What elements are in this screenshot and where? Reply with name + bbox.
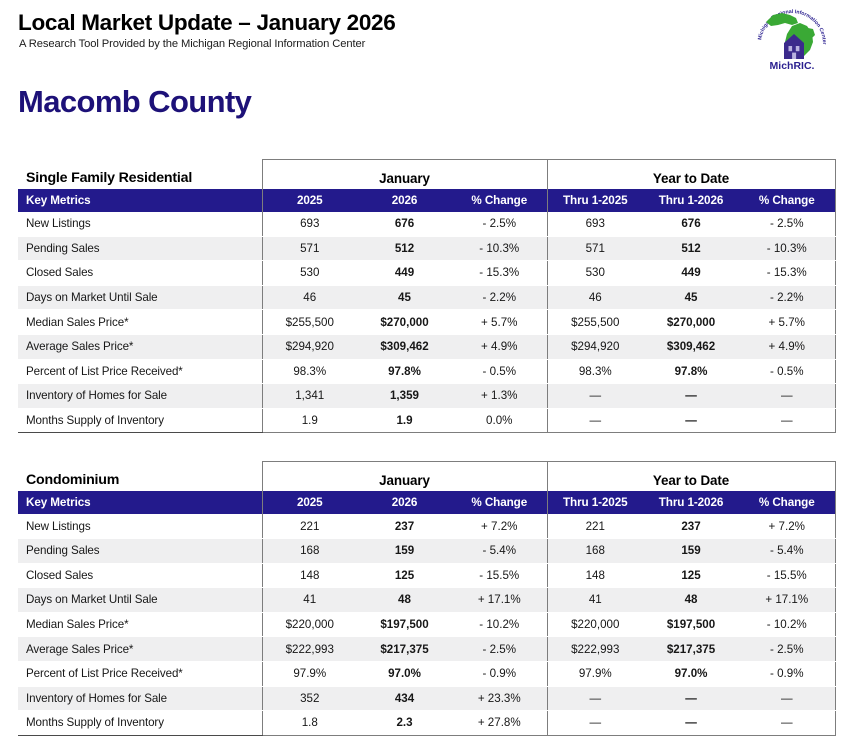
month-change-value: - 10.3% <box>452 236 547 261</box>
table-row: Median Sales Price* $255,500 $270,000 + … <box>18 310 835 335</box>
col-header-ytd-change: % Change <box>739 491 835 514</box>
month-prior-value: $255,500 <box>262 310 357 335</box>
ytd-prior-value: — <box>547 711 643 736</box>
ytd-current-value: 159 <box>643 538 739 563</box>
month-change-value: + 23.3% <box>452 686 547 711</box>
table-row: Months Supply of Inventory 1.9 1.9 0.0% … <box>18 408 835 433</box>
col-header-month-prior: 2025 <box>262 491 357 514</box>
metric-label: Pending Sales <box>18 236 262 261</box>
ytd-change-value: + 4.9% <box>739 334 835 359</box>
month-prior-value: 1.9 <box>262 408 357 433</box>
table-row: Closed Sales 530 449 - 15.3% 530 449 - 1… <box>18 261 835 286</box>
month-current-value: 45 <box>357 285 452 310</box>
ytd-prior-value: 168 <box>547 538 643 563</box>
ytd-change-value: - 5.4% <box>739 538 835 563</box>
table-row: New Listings 693 676 - 2.5% 693 676 - 2.… <box>18 212 835 236</box>
month-current-value: 1,359 <box>357 384 452 409</box>
table-row: Average Sales Price* $294,920 $309,462 +… <box>18 334 835 359</box>
metric-label: New Listings <box>18 212 262 236</box>
property-type-label: Single Family Residential <box>18 160 262 190</box>
ytd-prior-value: 41 <box>547 588 643 613</box>
ytd-current-value: — <box>643 711 739 736</box>
ytd-change-value: - 10.2% <box>739 612 835 637</box>
month-prior-value: 530 <box>262 261 357 286</box>
ytd-prior-value: $294,920 <box>547 334 643 359</box>
ytd-current-value: $309,462 <box>643 334 739 359</box>
metric-label: Days on Market Until Sale <box>18 588 262 613</box>
ytd-change-value: - 2.2% <box>739 285 835 310</box>
ytd-prior-value: 693 <box>547 212 643 236</box>
ytd-current-value: 237 <box>643 514 739 538</box>
ytd-prior-value: 46 <box>547 285 643 310</box>
table-row: Percent of List Price Received* 97.9% 97… <box>18 661 835 686</box>
ytd-current-value: 97.8% <box>643 359 739 384</box>
table-row: Days on Market Until Sale 46 45 - 2.2% 4… <box>18 285 835 310</box>
ytd-change-value: — <box>739 408 835 433</box>
ytd-prior-value: 148 <box>547 563 643 588</box>
ytd-change-value: - 15.5% <box>739 563 835 588</box>
ytd-current-value: 512 <box>643 236 739 261</box>
col-header-ytd-current: Thru 1-2026 <box>643 189 739 212</box>
table-row: Pending Sales 168 159 - 5.4% 168 159 - 5… <box>18 538 835 563</box>
col-header-ytd-prior: Thru 1-2025 <box>547 189 643 212</box>
month-prior-value: 148 <box>262 563 357 588</box>
ytd-prior-value: $222,993 <box>547 637 643 662</box>
period-header-ytd: Year to Date <box>547 160 835 190</box>
month-prior-value: 352 <box>262 686 357 711</box>
period-header-ytd: Year to Date <box>547 462 835 492</box>
month-current-value: 97.8% <box>357 359 452 384</box>
ytd-prior-value: — <box>547 686 643 711</box>
table-row: Average Sales Price* $222,993 $217,375 -… <box>18 637 835 662</box>
ytd-prior-value: $255,500 <box>547 310 643 335</box>
month-change-value: + 7.2% <box>452 514 547 538</box>
ytd-change-value: + 5.7% <box>739 310 835 335</box>
property-type-label: Condominium <box>18 462 262 492</box>
column-header-row: Key Metrics 2025 2026 % Change Thru 1-20… <box>18 491 835 514</box>
ytd-change-value: + 17.1% <box>739 588 835 613</box>
month-change-value: - 0.9% <box>452 661 547 686</box>
metric-label: Percent of List Price Received* <box>18 661 262 686</box>
ytd-change-value: - 2.5% <box>739 212 835 236</box>
month-current-value: 97.0% <box>357 661 452 686</box>
metric-label: Pending Sales <box>18 538 262 563</box>
ytd-prior-value: 97.9% <box>547 661 643 686</box>
month-prior-value: 1.8 <box>262 711 357 736</box>
col-header-month-current: 2026 <box>357 491 452 514</box>
period-header-month: January <box>262 462 547 492</box>
ytd-prior-value: $220,000 <box>547 612 643 637</box>
ytd-change-value: + 7.2% <box>739 514 835 538</box>
condominium-table: Condominium January Year to Date Key Met… <box>18 461 836 735</box>
condominium-section: Condominium January Year to Date Key Met… <box>18 461 835 735</box>
month-change-value: - 2.5% <box>452 637 547 662</box>
month-current-value: 676 <box>357 212 452 236</box>
month-change-value: - 10.2% <box>452 612 547 637</box>
ytd-prior-value: 98.3% <box>547 359 643 384</box>
col-header-month-change: % Change <box>452 491 547 514</box>
month-prior-value: 168 <box>262 538 357 563</box>
month-current-value: $217,375 <box>357 637 452 662</box>
metric-label: Inventory of Homes for Sale <box>18 384 262 409</box>
metric-label: New Listings <box>18 514 262 538</box>
month-change-value: + 5.7% <box>452 310 547 335</box>
month-current-value: 2.3 <box>357 711 452 736</box>
metric-label: Closed Sales <box>18 563 262 588</box>
ytd-change-value: - 0.5% <box>739 359 835 384</box>
ytd-current-value: — <box>643 408 739 433</box>
ytd-change-value: — <box>739 384 835 409</box>
metric-label: Closed Sales <box>18 261 262 286</box>
ytd-prior-value: 530 <box>547 261 643 286</box>
table-row: Inventory of Homes for Sale 352 434 + 23… <box>18 686 835 711</box>
metric-label: Median Sales Price* <box>18 310 262 335</box>
single-family-residential-section: Single Family Residential January Year t… <box>18 159 835 433</box>
michric-logo: Michigan Regional Information Center Mic… <box>752 4 832 72</box>
col-header-ytd-change: % Change <box>739 189 835 212</box>
ytd-current-value: 48 <box>643 588 739 613</box>
month-prior-value: 571 <box>262 236 357 261</box>
table-row: Months Supply of Inventory 1.8 2.3 + 27.… <box>18 711 835 736</box>
month-change-value: - 15.3% <box>452 261 547 286</box>
single-family-residential-table: Single Family Residential January Year t… <box>18 159 836 433</box>
month-current-value: $197,500 <box>357 612 452 637</box>
ytd-current-value: 676 <box>643 212 739 236</box>
table-row: Closed Sales 148 125 - 15.5% 148 125 - 1… <box>18 563 835 588</box>
ytd-current-value: $197,500 <box>643 612 739 637</box>
metric-label: Months Supply of Inventory <box>18 711 262 736</box>
month-current-value: $270,000 <box>357 310 452 335</box>
month-change-value: - 2.5% <box>452 212 547 236</box>
ytd-prior-value: 571 <box>547 236 643 261</box>
ytd-change-value: - 2.5% <box>739 637 835 662</box>
month-change-value: - 0.5% <box>452 359 547 384</box>
metric-label: Percent of List Price Received* <box>18 359 262 384</box>
ytd-current-value: — <box>643 384 739 409</box>
ytd-current-value: $270,000 <box>643 310 739 335</box>
month-prior-value: 46 <box>262 285 357 310</box>
ytd-current-value: — <box>643 686 739 711</box>
col-header-key-metrics: Key Metrics <box>18 491 262 514</box>
logo-wordmark: MichRIC. <box>770 60 815 72</box>
ytd-prior-value: — <box>547 408 643 433</box>
month-change-value: + 17.1% <box>452 588 547 613</box>
month-change-value: + 4.9% <box>452 334 547 359</box>
metric-label: Average Sales Price* <box>18 637 262 662</box>
table-row: New Listings 221 237 + 7.2% 221 237 + 7.… <box>18 514 835 538</box>
metric-label: Months Supply of Inventory <box>18 408 262 433</box>
month-change-value: - 2.2% <box>452 285 547 310</box>
ytd-prior-value: 221 <box>547 514 643 538</box>
metric-label: Days on Market Until Sale <box>18 285 262 310</box>
month-current-value: 512 <box>357 236 452 261</box>
ytd-current-value: 449 <box>643 261 739 286</box>
ytd-prior-value: — <box>547 384 643 409</box>
table-row: Inventory of Homes for Sale 1,341 1,359 … <box>18 384 835 409</box>
col-header-month-current: 2026 <box>357 189 452 212</box>
month-change-value: + 1.3% <box>452 384 547 409</box>
month-prior-value: 1,341 <box>262 384 357 409</box>
group-header-row: Condominium January Year to Date <box>18 462 835 492</box>
table-row: Median Sales Price* $220,000 $197,500 - … <box>18 612 835 637</box>
report-subtitle: A Research Tool Provided by the Michigan… <box>19 38 850 50</box>
col-header-ytd-current: Thru 1-2026 <box>643 491 739 514</box>
ytd-change-value: - 10.3% <box>739 236 835 261</box>
month-prior-value: 693 <box>262 212 357 236</box>
month-change-value: + 27.8% <box>452 711 547 736</box>
col-header-month-prior: 2025 <box>262 189 357 212</box>
month-prior-value: $222,993 <box>262 637 357 662</box>
month-current-value: 159 <box>357 538 452 563</box>
metric-label: Average Sales Price* <box>18 334 262 359</box>
report-header: Local Market Update – January 2026 A Res… <box>0 0 850 62</box>
month-current-value: 449 <box>357 261 452 286</box>
ytd-current-value: 45 <box>643 285 739 310</box>
county-title: Macomb County <box>18 86 850 117</box>
month-prior-value: 97.9% <box>262 661 357 686</box>
ytd-change-value: — <box>739 711 835 736</box>
month-prior-value: $220,000 <box>262 612 357 637</box>
ytd-current-value: 97.0% <box>643 661 739 686</box>
ytd-change-value: - 0.9% <box>739 661 835 686</box>
metric-label: Inventory of Homes for Sale <box>18 686 262 711</box>
col-header-key-metrics: Key Metrics <box>18 189 262 212</box>
metric-label: Median Sales Price* <box>18 612 262 637</box>
page-title: Local Market Update – January 2026 <box>18 10 850 35</box>
table-row: Days on Market Until Sale 41 48 + 17.1% … <box>18 588 835 613</box>
month-current-value: 237 <box>357 514 452 538</box>
group-header-row: Single Family Residential January Year t… <box>18 160 835 190</box>
ytd-change-value: - 15.3% <box>739 261 835 286</box>
month-current-value: 1.9 <box>357 408 452 433</box>
column-header-row: Key Metrics 2025 2026 % Change Thru 1-20… <box>18 189 835 212</box>
ytd-change-value: — <box>739 686 835 711</box>
month-current-value: 434 <box>357 686 452 711</box>
table-row: Pending Sales 571 512 - 10.3% 571 512 - … <box>18 236 835 261</box>
month-prior-value: 41 <box>262 588 357 613</box>
month-current-value: $309,462 <box>357 334 452 359</box>
col-header-ytd-prior: Thru 1-2025 <box>547 491 643 514</box>
month-change-value: - 15.5% <box>452 563 547 588</box>
table-row: Percent of List Price Received* 98.3% 97… <box>18 359 835 384</box>
month-change-value: - 5.4% <box>452 538 547 563</box>
month-prior-value: $294,920 <box>262 334 357 359</box>
month-change-value: 0.0% <box>452 408 547 433</box>
ytd-current-value: 125 <box>643 563 739 588</box>
month-current-value: 48 <box>357 588 452 613</box>
col-header-month-change: % Change <box>452 189 547 212</box>
period-header-month: January <box>262 160 547 190</box>
ytd-current-value: $217,375 <box>643 637 739 662</box>
month-prior-value: 98.3% <box>262 359 357 384</box>
month-current-value: 125 <box>357 563 452 588</box>
month-prior-value: 221 <box>262 514 357 538</box>
